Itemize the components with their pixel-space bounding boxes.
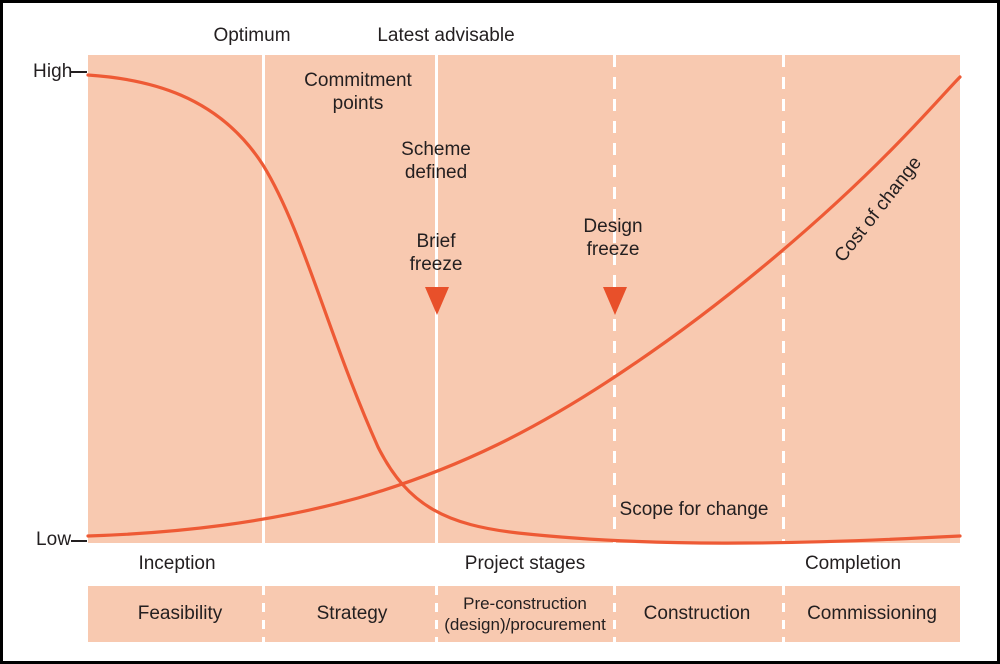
top-label-latest-advisable: Latest advisable xyxy=(377,25,514,47)
curve-label-scope-for-change: Scope for change xyxy=(620,498,769,521)
stage-label-pre-construction: Pre-construction (design)/procurement xyxy=(444,593,606,635)
annotation-commitment-points: Commitment points xyxy=(304,69,412,115)
y-axis-label-high: High xyxy=(33,61,72,83)
plot-area: Commitment points Scheme defined Brief f… xyxy=(88,55,960,543)
y-axis-tick-low xyxy=(71,540,87,542)
top-label-optimum: Optimum xyxy=(213,25,290,47)
stage-strip: Feasibility Strategy Pre-construction (d… xyxy=(88,586,960,642)
bottom-caption-inception: Inception xyxy=(138,553,215,575)
scope-for-change-curve xyxy=(88,75,960,543)
stage-divider-1 xyxy=(262,586,265,642)
chart-frame: Commitment points Scheme defined Brief f… xyxy=(0,0,1000,664)
stage-divider-2 xyxy=(435,586,438,642)
annotation-brief-freeze: Brief freeze xyxy=(410,230,463,276)
stage-divider-3 xyxy=(613,586,616,642)
stage-label-commissioning: Commissioning xyxy=(807,603,937,625)
stage-label-construction: Construction xyxy=(644,603,751,625)
chart-stage: Commitment points Scheme defined Brief f… xyxy=(3,3,1000,664)
annotation-design-freeze: Design freeze xyxy=(583,215,642,261)
bottom-caption-completion: Completion xyxy=(805,553,901,575)
stage-label-strategy: Strategy xyxy=(317,603,388,625)
stage-divider-4 xyxy=(782,586,785,642)
brief-freeze-marker-icon xyxy=(425,287,449,315)
y-axis-label-low: Low xyxy=(36,529,71,551)
cost-of-change-curve xyxy=(88,77,960,536)
stage-label-feasibility: Feasibility xyxy=(138,603,222,625)
bottom-caption-project-stages: Project stages xyxy=(465,553,585,575)
annotation-scheme-defined: Scheme defined xyxy=(401,138,471,184)
design-freeze-marker-icon xyxy=(603,287,627,315)
curves-svg xyxy=(88,55,960,543)
y-axis-tick-high xyxy=(71,71,87,73)
